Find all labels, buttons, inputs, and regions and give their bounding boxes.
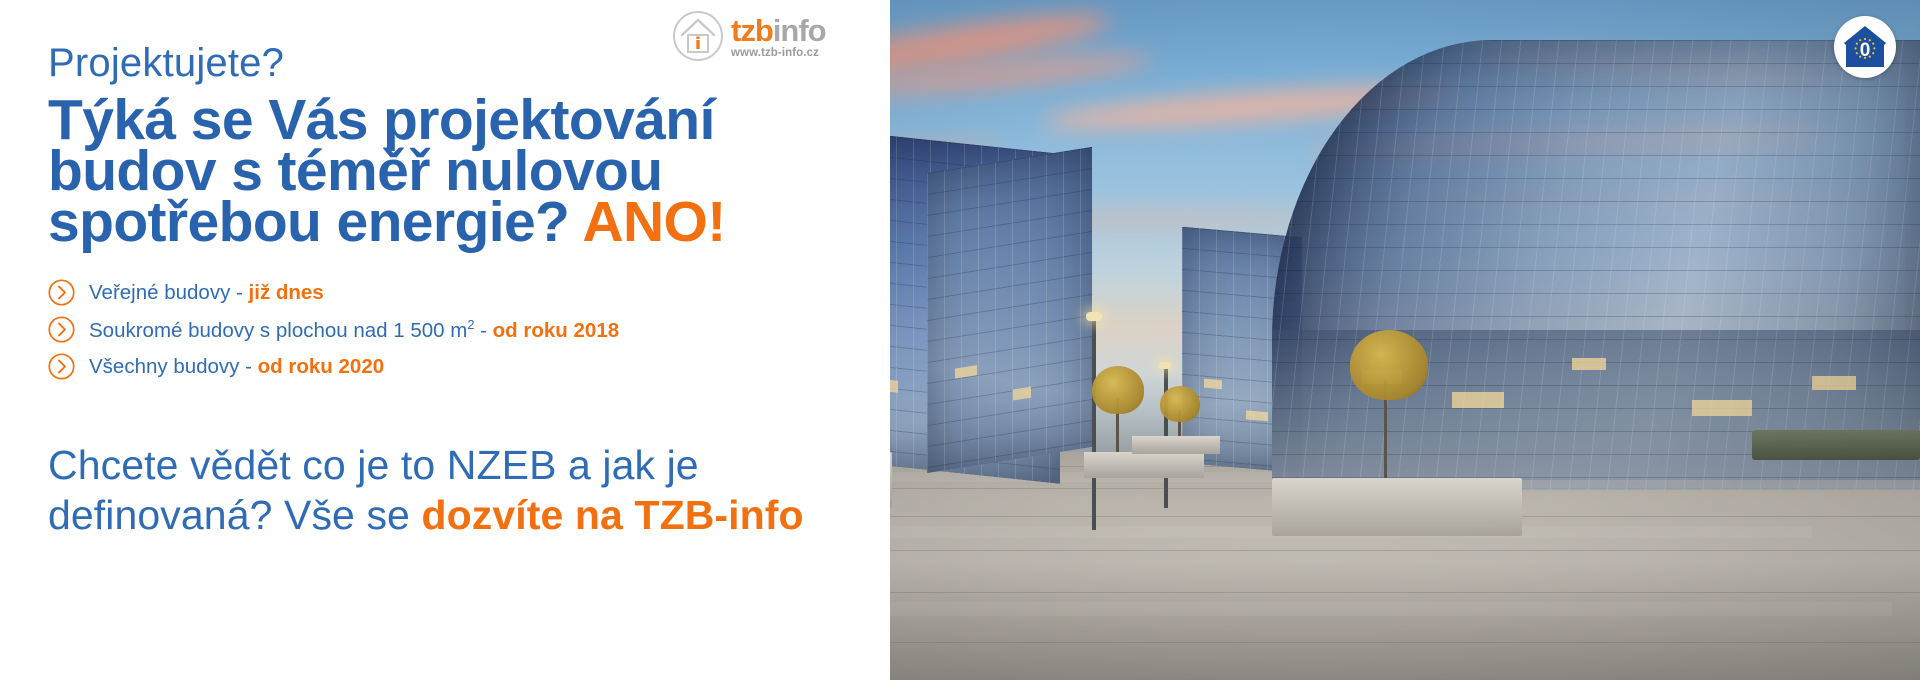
tree-foliage bbox=[1350, 330, 1428, 400]
building-left-wing bbox=[927, 147, 1092, 473]
headline-line-3-prefix: spotřebou energie? bbox=[48, 190, 582, 254]
list-item-highlight: od roku 2018 bbox=[493, 318, 619, 341]
chevron-right-circle-icon bbox=[48, 316, 75, 343]
concrete-bench-large bbox=[1272, 478, 1522, 536]
list-item-text: Veřejné budovy - již dnes bbox=[89, 281, 324, 305]
badge-digit: 0 bbox=[1860, 40, 1871, 61]
lamp-post bbox=[1092, 318, 1096, 530]
call-to-action[interactable]: Chcete vědět co je to NZEB a jak je defi… bbox=[48, 440, 838, 540]
logo-text-block: tzbinfo www.tzb-info.cz bbox=[731, 13, 826, 60]
headline: Týká se Vás projektování budov s téměř n… bbox=[48, 95, 748, 248]
list-item-label: Veřejné budovy - bbox=[89, 281, 249, 304]
cta-line-2: definovaná? Vše se dozvíte na TZB-info bbox=[48, 490, 838, 540]
cta-link[interactable]: dozvíte na TZB-info bbox=[421, 492, 803, 538]
tree-foliage bbox=[1160, 386, 1200, 422]
eyebrow-question: Projektujete? bbox=[48, 41, 284, 86]
headline-answer: ANO! bbox=[582, 190, 725, 254]
chevron-right-circle-icon bbox=[48, 279, 75, 306]
cta-line-2-prefix: definovaná? Vše se bbox=[48, 492, 421, 538]
lamp-head-icon bbox=[1159, 362, 1171, 369]
logo-url: www.tzb-info.cz bbox=[731, 48, 826, 60]
nzeb-promo-banner: 0 tzbinfo www.tzb-info.cz Projektujete? bbox=[0, 0, 1920, 680]
house-with-info-icon bbox=[672, 10, 724, 62]
list-item-label-after: - bbox=[474, 318, 492, 341]
list-item-label: Soukromé budovy s plochou nad 1 500 m bbox=[89, 318, 467, 341]
tzb-info-logo[interactable]: tzbinfo www.tzb-info.cz bbox=[672, 6, 872, 66]
hero-photo: 0 bbox=[712, 0, 1920, 680]
list-item-text: Soukromé budovy s plochou nad 1 500 m2 -… bbox=[89, 317, 619, 343]
list-item[interactable]: Veřejné budovy - již dnes bbox=[48, 274, 808, 311]
content-panel: tzbinfo www.tzb-info.cz Projektujete? Tý… bbox=[0, 0, 890, 680]
list-item-highlight: od roku 2020 bbox=[258, 355, 384, 378]
list-item[interactable]: Soukromé budovy s plochou nad 1 500 m2 -… bbox=[48, 311, 808, 348]
list-item-text: Všechny budovy - od roku 2020 bbox=[89, 355, 384, 379]
logo-word-info: info bbox=[773, 13, 826, 48]
logo-wordmark: tzbinfo bbox=[731, 15, 826, 46]
deadline-list: Veřejné budovy - již dnes Soukromé budov… bbox=[48, 274, 808, 385]
logo-word-tzb: tzb bbox=[731, 13, 773, 48]
cta-line-1: Chcete vědět co je to NZEB a jak je bbox=[48, 440, 838, 490]
list-item-highlight: již dnes bbox=[249, 281, 324, 304]
headline-line-3: spotřebou energie? ANO! bbox=[48, 197, 748, 248]
nzeb-zero-energy-badge: 0 bbox=[1834, 16, 1896, 78]
lamp-head-icon bbox=[1086, 312, 1102, 321]
concrete-bench bbox=[1132, 436, 1220, 454]
house-zero-icon: 0 bbox=[1840, 22, 1890, 72]
chevron-right-circle-icon bbox=[48, 353, 75, 380]
list-item-label: Všechny budovy - bbox=[89, 355, 258, 378]
list-item[interactable]: Všechny budovy - od roku 2020 bbox=[48, 348, 808, 385]
hedge bbox=[1752, 430, 1920, 460]
building-right-glass-grid bbox=[1272, 40, 1920, 490]
tree-foliage bbox=[1092, 366, 1144, 414]
concrete-bench bbox=[1084, 452, 1204, 478]
